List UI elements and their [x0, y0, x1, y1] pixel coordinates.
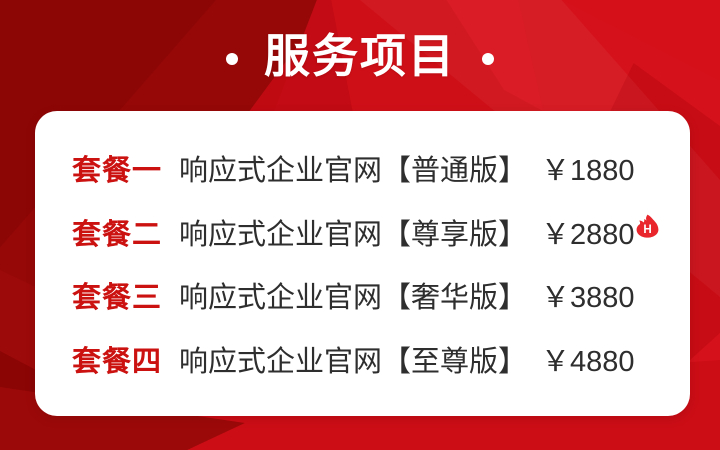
- plan-row[interactable]: 套餐二 响应式企业官网【尊享版】 ￥2880 H: [35, 201, 690, 263]
- plan-row[interactable]: 套餐一 响应式企业官网【普通版】 ￥1880: [35, 137, 690, 199]
- plan-price: ￥1880: [541, 147, 635, 189]
- bullet-dot-icon-left: [226, 53, 238, 65]
- service-plans-banner: 服务项目 套餐一 响应式企业官网【普通版】 ￥1880 套餐二 响应式企业官网【…: [0, 0, 720, 450]
- bullet-dot-icon-right: [482, 53, 494, 65]
- plan-tier-label: 套餐二: [72, 211, 162, 253]
- plan-price: ￥3880: [541, 274, 635, 316]
- plan-tier-label: 套餐四: [72, 338, 162, 380]
- plan-tier-label: 套餐一: [72, 147, 162, 189]
- plan-price: ￥2880: [541, 211, 635, 253]
- page-title: 服务项目: [264, 33, 456, 79]
- hot-flame-icon: H: [636, 214, 659, 238]
- svg-text:H: H: [643, 223, 651, 236]
- plan-description: 响应式企业官网【奢华版】: [179, 274, 527, 316]
- plan-row[interactable]: 套餐四 响应式企业官网【至尊版】 ￥4880: [35, 328, 690, 390]
- plan-price: ￥4880: [541, 338, 635, 380]
- plan-description: 响应式企业官网【至尊版】: [179, 338, 527, 380]
- banner-header: 服务项目: [0, 0, 720, 112]
- plan-row[interactable]: 套餐三 响应式企业官网【奢华版】 ￥3880: [35, 264, 690, 326]
- plan-description: 响应式企业官网【尊享版】: [179, 211, 527, 253]
- plan-tier-label: 套餐三: [72, 274, 162, 316]
- plan-description: 响应式企业官网【普通版】: [179, 147, 527, 189]
- plans-card: 套餐一 响应式企业官网【普通版】 ￥1880 套餐二 响应式企业官网【尊享版】 …: [35, 111, 690, 416]
